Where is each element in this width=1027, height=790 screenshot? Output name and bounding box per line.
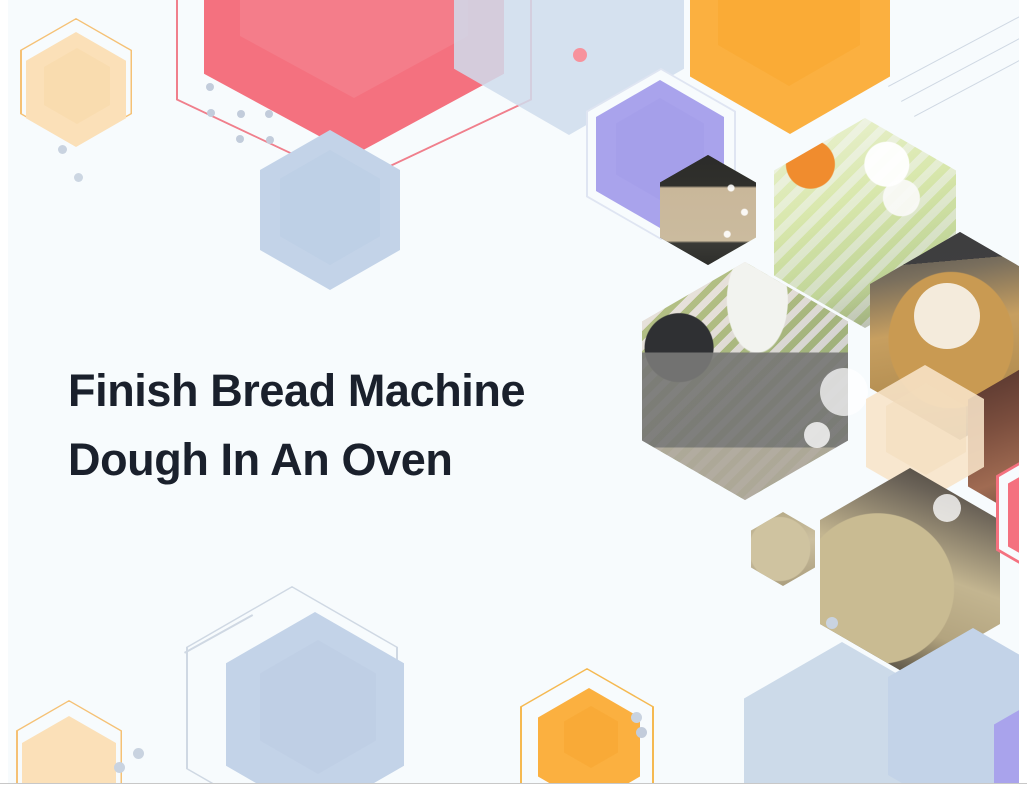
dot-bluegrey-icon (237, 110, 245, 118)
banner-canvas: Finish Bread Machine Dough In An Oven (8, 0, 1019, 783)
circle-overlay-large-icon (820, 368, 868, 416)
dot-bluegrey-icon (631, 712, 642, 723)
dot-bluegrey-icon (266, 136, 274, 144)
hero-banner: Finish Bread Machine Dough In An Oven (0, 0, 1027, 790)
deco-line-icon (914, 22, 1019, 117)
circle-overlay-small-icon (933, 494, 961, 522)
dot-bluegrey-icon (114, 762, 125, 773)
dot-bluegrey-icon (236, 135, 244, 143)
circle-overlay-large-icon (914, 283, 980, 349)
dot-bluegrey-icon (207, 109, 215, 117)
dot-bluegrey-icon (826, 617, 838, 629)
bottom-divider (0, 783, 1027, 790)
page-title: Finish Bread Machine Dough In An Oven (68, 356, 628, 494)
dot-bluegrey-icon (74, 173, 83, 182)
dot-bluegrey-icon (58, 145, 67, 154)
dot-bluegrey-icon (206, 83, 214, 91)
deco-line-icon (901, 2, 1019, 102)
dot-bluegrey-icon (636, 727, 647, 738)
dot-bluegrey-icon (133, 748, 144, 759)
dot-coral-icon (573, 48, 587, 62)
dot-bluegrey-icon (265, 110, 273, 118)
